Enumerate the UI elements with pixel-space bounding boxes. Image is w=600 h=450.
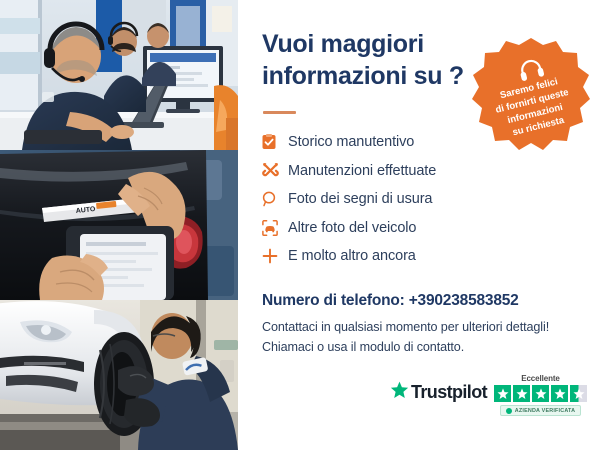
star-half-5 xyxy=(570,385,587,402)
star-filled-4 xyxy=(551,385,568,402)
mechanic-wheel-check-photo xyxy=(0,300,238,450)
headline-line-2: informazioni su ? xyxy=(262,60,477,92)
star-filled-3 xyxy=(532,385,549,402)
promo-card: AUTO xyxy=(0,0,600,450)
trustpilot-wordmark: Trustpilot xyxy=(411,382,487,403)
verified-company-label: AZIENDA VERIFICATA xyxy=(515,408,575,414)
feature-item-altre-foto-veicolo: Altre foto del veicolo xyxy=(262,214,562,243)
verified-company-badge: AZIENDA VERIFICATA xyxy=(500,405,581,416)
phone-number-line: Numero di telefono: +390238583852 xyxy=(262,292,519,310)
clipboard-check-icon xyxy=(262,132,288,152)
feature-label: Foto dei segni di usura xyxy=(288,191,432,207)
page-title: Vuoi maggiori informazioni su ? xyxy=(262,28,477,92)
trustpilot-rating: Eccellente xyxy=(494,374,587,416)
trustpilot-logo: Trustpilot xyxy=(390,381,487,404)
car-scan-frame-icon xyxy=(262,218,288,238)
contact-line-2: Chiamaci o usa il modulo di contatto. xyxy=(262,338,582,358)
feature-item-manutenzioni-effettuate: Manutenzioni effettuate xyxy=(262,157,562,186)
trustpilot-stars xyxy=(494,385,587,402)
verified-check-icon xyxy=(506,408,512,414)
feature-item-foto-segni-usura: Foto dei segni di usura xyxy=(262,185,562,214)
magnifier-icon xyxy=(262,189,288,209)
photo-column: AUTO xyxy=(0,0,238,450)
contact-line-1: Contattaci in qualsiasi momento per ulte… xyxy=(262,318,582,338)
trustpilot-star-icon xyxy=(390,381,409,404)
feature-label: Altre foto del veicolo xyxy=(288,220,416,236)
feature-label: E molto altro ancora xyxy=(288,248,416,264)
feature-label: Manutenzioni effettuate xyxy=(288,163,436,179)
title-divider xyxy=(263,111,296,114)
content-column: Vuoi maggiori informazioni su ? Saremo f… xyxy=(238,0,600,450)
headline-line-1: Vuoi maggiori xyxy=(262,28,477,60)
crossed-tools-icon xyxy=(262,161,288,181)
call-center-agents-photo xyxy=(0,0,238,150)
feature-list: Storico manutentivo Manutenzioni effettu… xyxy=(262,128,562,271)
feature-item-molto-altro: E molto altro ancora xyxy=(262,242,562,271)
trustpilot-rating-word: Eccellente xyxy=(521,374,560,383)
trustpilot-widget[interactable]: Trustpilot Eccellente xyxy=(390,374,587,416)
star-filled-1 xyxy=(494,385,511,402)
car-inspection-tablet-photo: AUTO xyxy=(0,150,238,300)
feature-item-storico-manutentivo: Storico manutentivo xyxy=(262,128,562,157)
contact-instructions: Contattaci in qualsiasi momento per ulte… xyxy=(262,318,582,358)
plus-icon xyxy=(262,246,288,266)
star-filled-2 xyxy=(513,385,530,402)
feature-label: Storico manutentivo xyxy=(288,134,414,150)
